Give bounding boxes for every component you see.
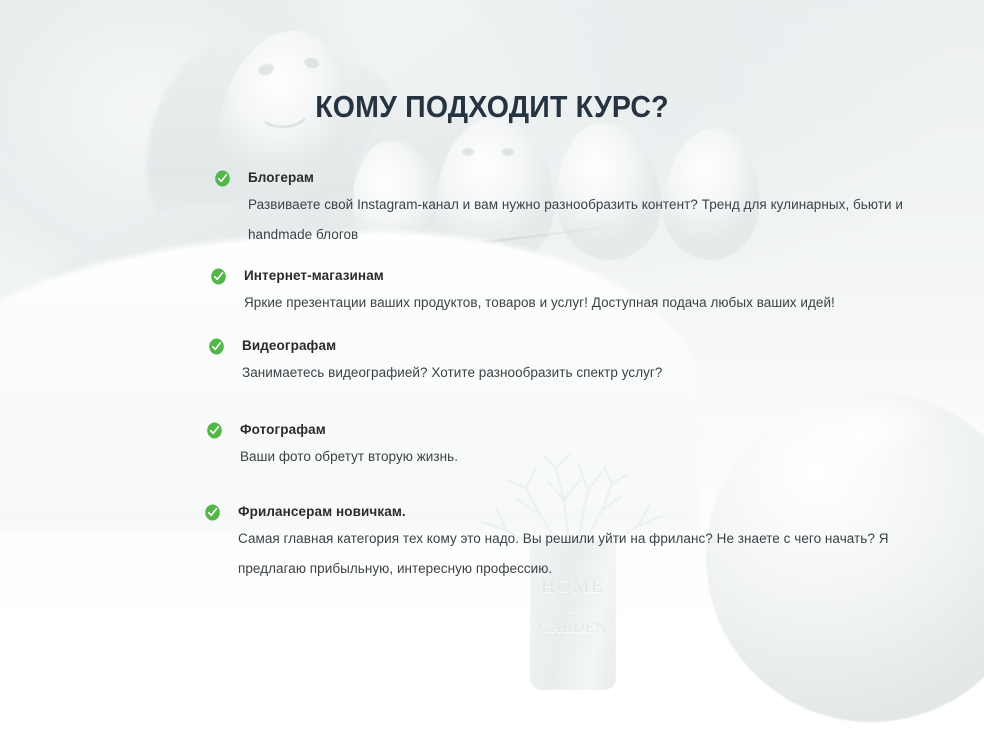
page-title: КОМУ ПОДХОДИТ КУРС? bbox=[39, 89, 944, 125]
list-item-title: Фрилансерам новичкам. bbox=[238, 502, 906, 521]
audience-list: Блогерам Развиваете свой Instagram-канал… bbox=[206, 168, 906, 584]
list-item: Видеографам Занимаетесь видеографией? Хо… bbox=[208, 336, 906, 388]
green-check-icon bbox=[214, 170, 231, 187]
list-item: Интернет-магазинам Яркие презентации ваш… bbox=[210, 266, 906, 318]
list-item-title: Фотографам bbox=[240, 420, 906, 439]
list-item: Блогерам Развиваете свой Instagram-канал… bbox=[214, 168, 906, 250]
list-item-description: Яркие презентации ваших продуктов, товар… bbox=[244, 288, 906, 318]
list-item-description: Самая главная категория тех кому это над… bbox=[238, 524, 906, 584]
list-item-title: Интернет-магазинам bbox=[244, 266, 906, 285]
list-item-title: Видеографам bbox=[242, 336, 906, 355]
green-check-icon bbox=[206, 422, 223, 439]
green-check-icon bbox=[210, 268, 227, 285]
green-check-icon bbox=[204, 504, 221, 521]
list-item-description: Развиваете свой Instagram-канал и вам ну… bbox=[248, 190, 906, 250]
list-item: Фотографам Ваши фото обретут вторую жизн… bbox=[206, 420, 906, 472]
list-item-description: Ваши фото обретут вторую жизнь. bbox=[240, 442, 906, 472]
green-check-icon bbox=[208, 338, 225, 355]
list-item-title: Блогерам bbox=[248, 168, 906, 187]
list-item-description: Занимаетесь видеографией? Хотите разнооб… bbox=[242, 358, 906, 388]
slide-content: КОМУ ПОДХОДИТ КУРС? Блогерам Развиваете … bbox=[0, 0, 984, 735]
slide-root: HOME & GARDEN КОМУ ПОДХОДИТ КУРС? Блогер… bbox=[0, 0, 984, 735]
list-item: Фрилансерам новичкам. Самая главная кате… bbox=[204, 502, 906, 584]
